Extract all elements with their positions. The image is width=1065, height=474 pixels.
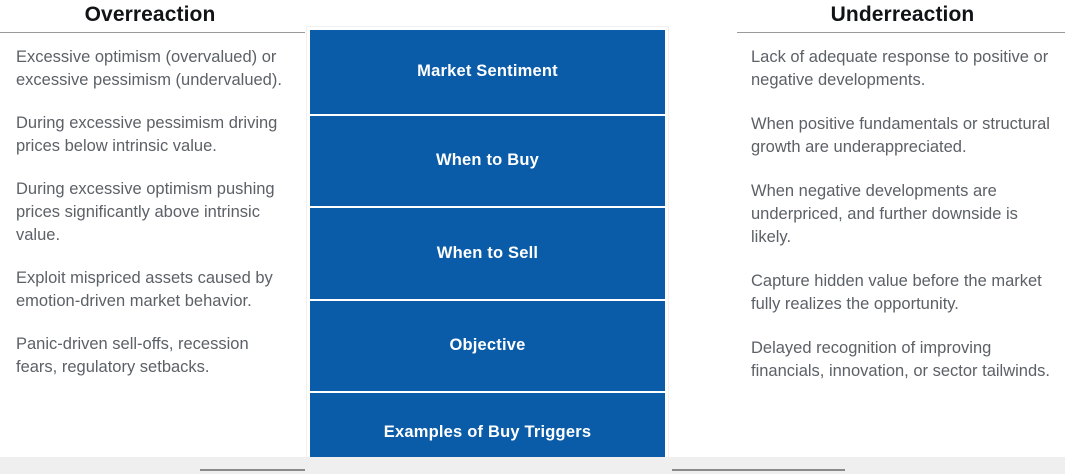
category-cell-market-sentiment[interactable]: Market Sentiment (310, 30, 665, 116)
underreaction-item-4: Capture hidden value before the market f… (751, 270, 1051, 316)
category-cell-when-to-sell[interactable]: When to Sell (310, 208, 665, 300)
bottom-rule-left (200, 469, 305, 471)
underreaction-item-5: Delayed recognition of improving financi… (751, 337, 1051, 383)
overreaction-column: Excessive optimism (overvalued) or exces… (16, 46, 292, 399)
underreaction-column: Lack of adequate response to positive or… (751, 46, 1051, 404)
category-cell-when-to-buy[interactable]: When to Buy (310, 116, 665, 208)
column-header-underreaction: Underreaction (740, 0, 1065, 30)
underreaction-item-1: Lack of adequate response to positive or… (751, 46, 1051, 92)
comparison-table: Overreaction Underreaction Excessive opt… (0, 0, 1065, 474)
underreaction-item-3: When negative developments are underpric… (751, 180, 1051, 249)
overreaction-item-3: During excessive optimism pushing prices… (16, 178, 292, 247)
underreaction-item-2: When positive fundamentals or structural… (751, 113, 1051, 159)
category-cell-objective[interactable]: Objective (310, 301, 665, 393)
column-header-overreaction: Overreaction (0, 0, 300, 30)
bottom-band (0, 457, 1065, 474)
header-divider-right (737, 32, 1065, 33)
overreaction-item-5: Panic-driven sell-offs, recession fears,… (16, 333, 292, 379)
category-column: Market Sentiment When to Buy When to Sel… (307, 27, 668, 474)
overreaction-item-4: Exploit mispriced assets caused by emoti… (16, 267, 292, 313)
overreaction-item-2: During excessive pessimism driving price… (16, 112, 292, 158)
bottom-rule-right (672, 469, 845, 471)
overreaction-item-1: Excessive optimism (overvalued) or exces… (16, 46, 292, 92)
header-divider-left (0, 32, 305, 33)
